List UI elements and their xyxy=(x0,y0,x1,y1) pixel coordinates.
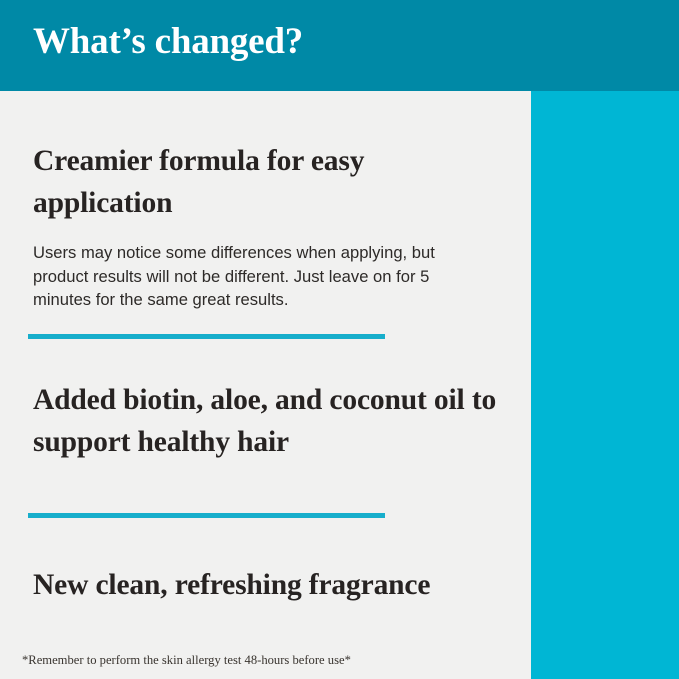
header-band: What’s changed? xyxy=(0,0,679,91)
section-body-formula: Users may notice some differences when a… xyxy=(33,241,485,312)
section-divider-1 xyxy=(28,334,385,339)
section-heading-ingredients: Added biotin, aloe, and coconut oil to s… xyxy=(33,379,523,463)
section-heading-formula: Creamier formula for easy application xyxy=(33,140,493,224)
accent-color-column xyxy=(531,0,679,679)
whats-changed-infographic: What’s changed? Creamier formula for eas… xyxy=(0,0,679,679)
section-divider-2 xyxy=(28,513,385,518)
section-heading-fragrance: New clean, refreshing fragrance xyxy=(33,564,533,606)
allergy-test-footnote: *Remember to perform the skin allergy te… xyxy=(22,652,351,669)
page-title: What’s changed? xyxy=(33,17,303,67)
content-panel: Creamier formula for easy application Us… xyxy=(0,91,531,679)
